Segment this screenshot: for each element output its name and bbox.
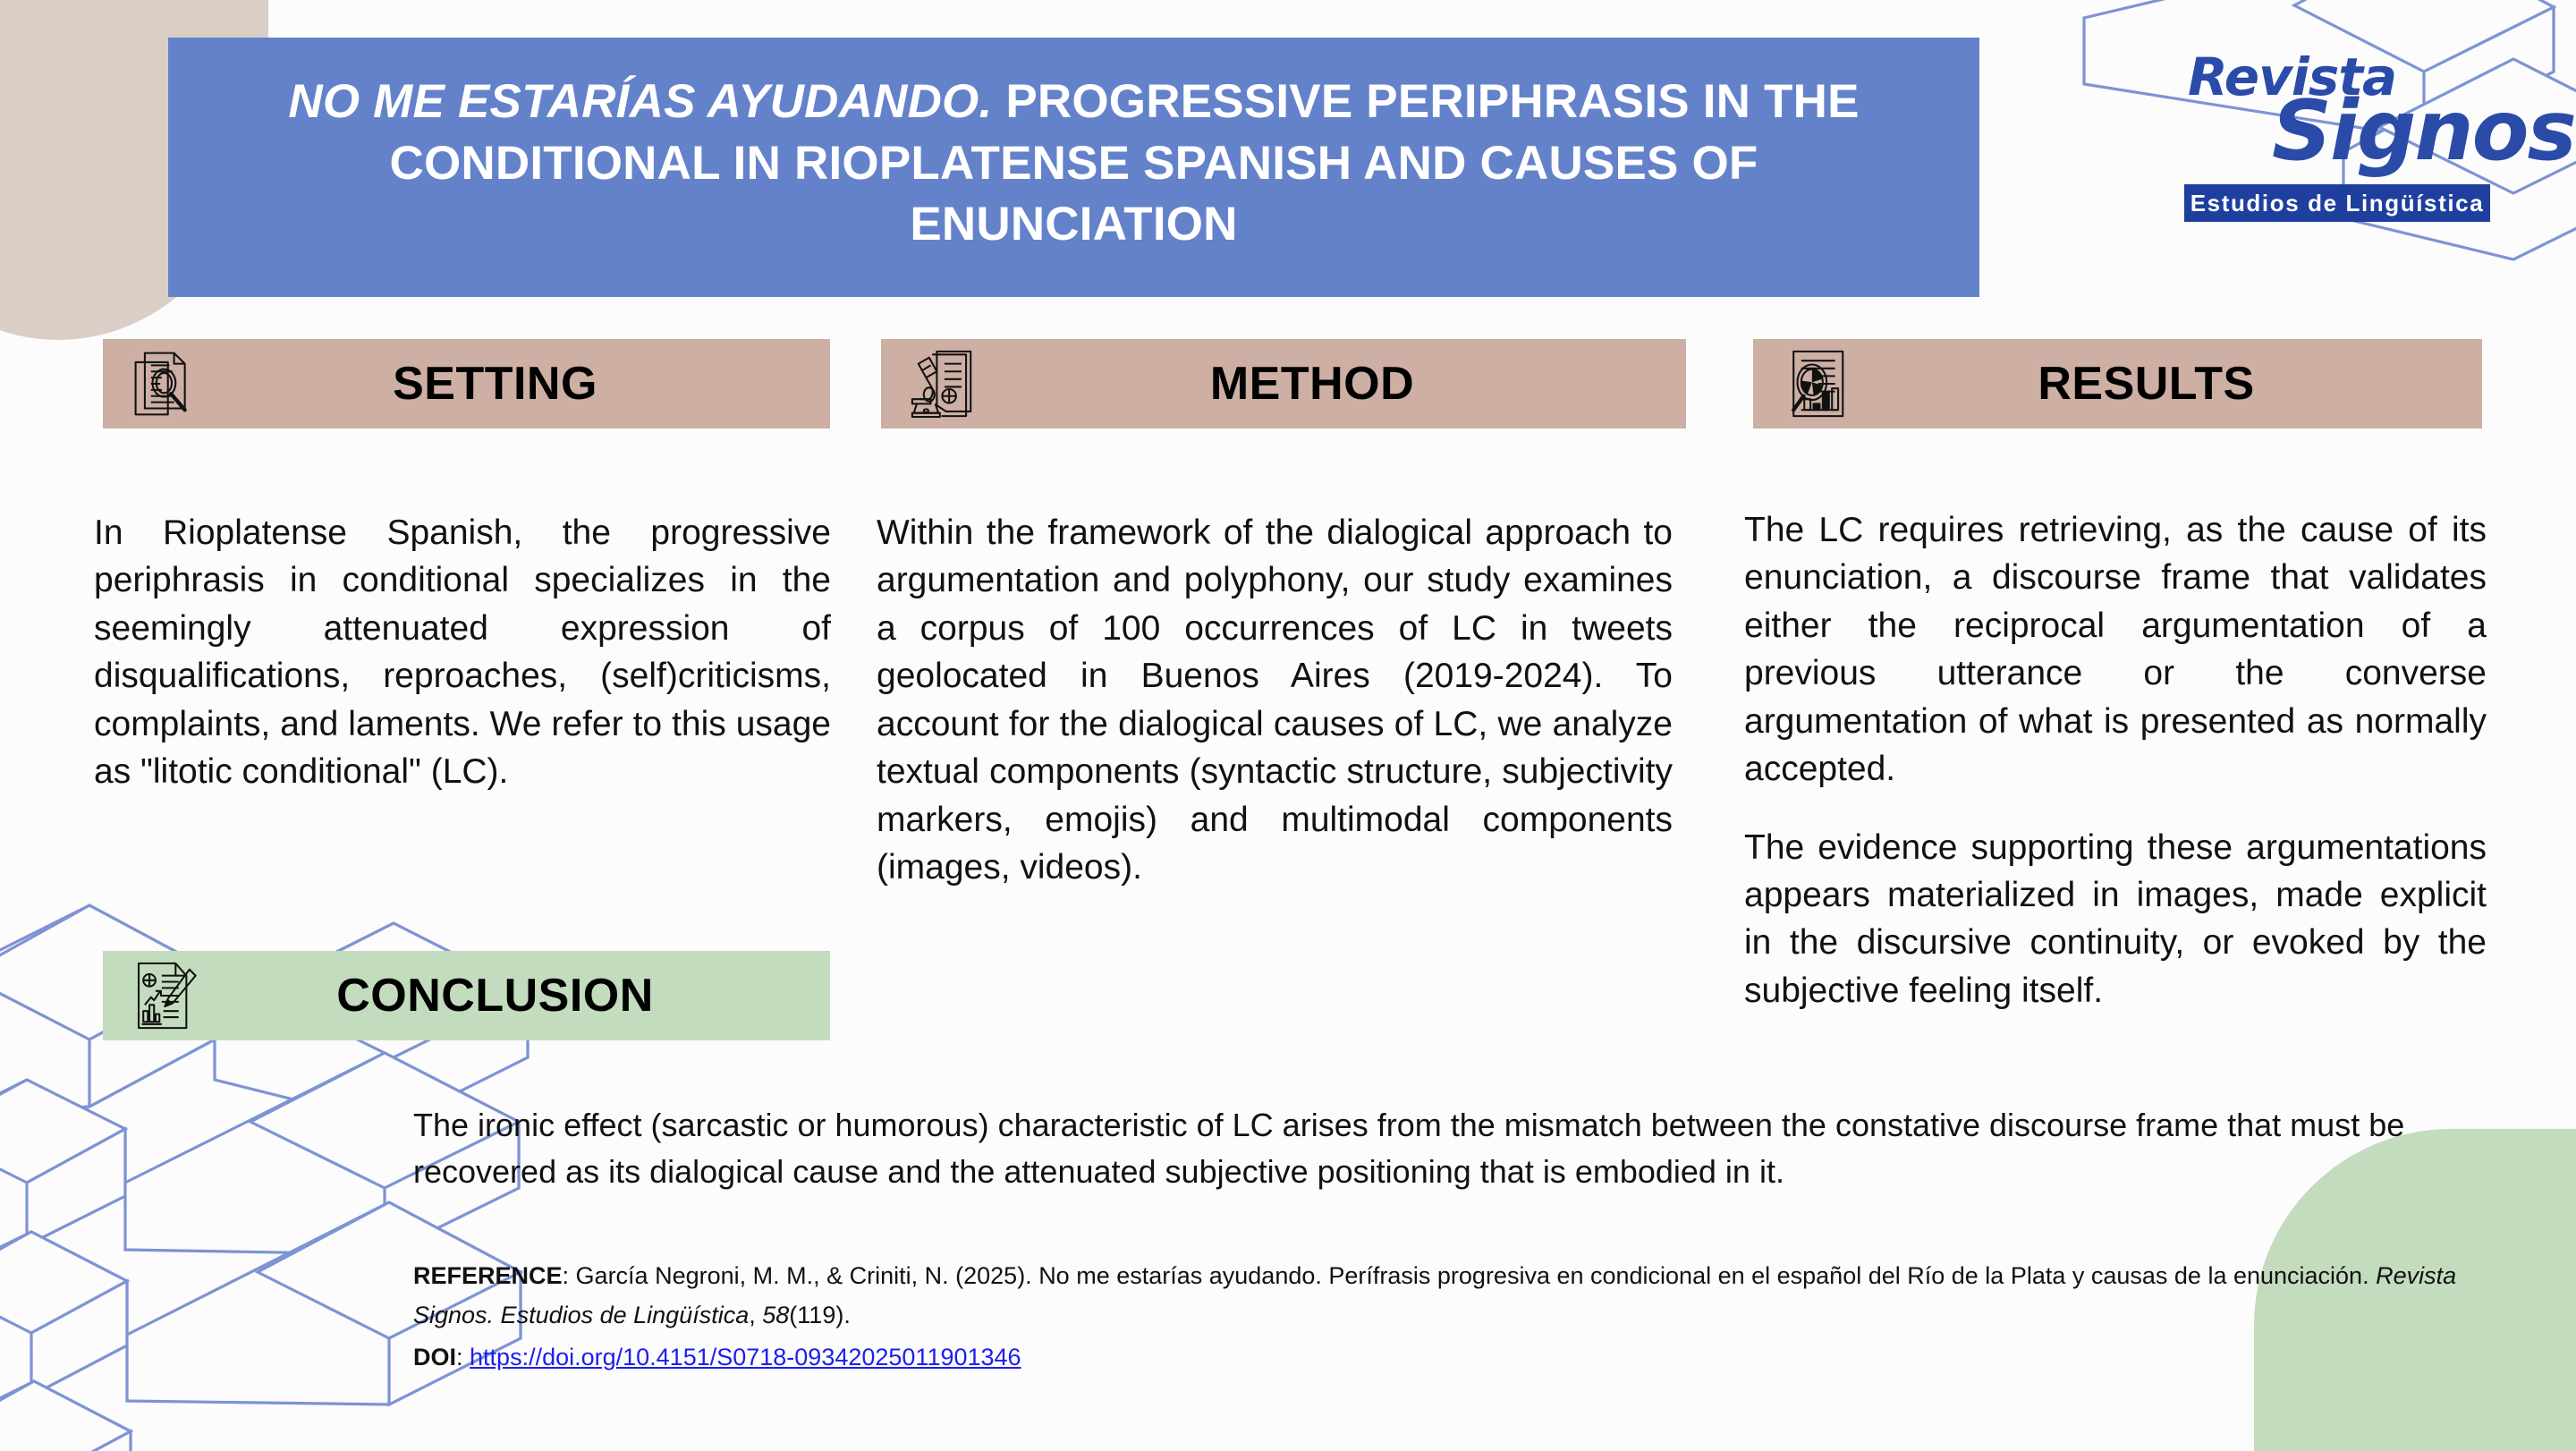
reference-label-suffix: : — [563, 1262, 576, 1289]
section-body-method: Within the framework of the dialogical a… — [877, 509, 1673, 891]
logo-subtitle-bar: Estudios de Lingüística — [2184, 184, 2490, 222]
chart-report-magnifier-icon — [1778, 345, 1855, 422]
document-magnifier-icon — [128, 345, 205, 422]
doi-line: DOI: https://doi.org/10.4151/S0718-09342… — [413, 1338, 2488, 1378]
reference-citation-part1: García Negroni, M. M., & Criniti, N. (20… — [576, 1262, 2377, 1289]
section-title-method: METHOD — [983, 357, 1686, 411]
section-title-results: RESULTS — [1855, 357, 2482, 411]
page-title-italic-part: NO ME ESTARÍAS AYUDANDO. — [288, 75, 992, 128]
doi-label-suffix: : — [456, 1344, 470, 1370]
journal-logo: Revista Signos Estudios de Lingüística — [2157, 27, 2515, 228]
section-body-setting: In Rioplatense Spanish, the progressive … — [94, 509, 831, 796]
doi-link[interactable]: https://doi.org/10.4151/S0718-0934202501… — [470, 1344, 1021, 1370]
section-title-setting: SETTING — [205, 357, 830, 411]
reference-citation-part2: , — [749, 1302, 762, 1328]
reference-label: REFERENCE — [413, 1262, 563, 1289]
paragraph: The evidence supporting these argumentat… — [1744, 824, 2487, 1015]
paragraph: The ironic effect (sarcastic or humorous… — [413, 1107, 2404, 1190]
paragraph: The LC requires retrieving, as the cause… — [1744, 506, 2487, 793]
paragraph: In Rioplatense Spanish, the progressive … — [94, 509, 831, 796]
section-header-method: METHOD — [881, 339, 1686, 429]
section-header-setting: SETTING — [103, 339, 830, 429]
page-title: NO ME ESTARÍAS AYUDANDO. PROGRESSIVE PER… — [254, 72, 1894, 257]
poster-canvas: NO ME ESTARÍAS AYUDANDO. PROGRESSIVE PER… — [0, 0, 2576, 1451]
microscope-document-icon — [906, 345, 983, 422]
reference-block: REFERENCE: García Negroni, M. M., & Crin… — [413, 1257, 2488, 1378]
reference-issue: (119). — [789, 1302, 851, 1328]
reference-citation: REFERENCE: García Negroni, M. M., & Crin… — [413, 1257, 2488, 1335]
poster-title-bar: NO ME ESTARÍAS AYUDANDO. PROGRESSIVE PER… — [168, 38, 1979, 297]
logo-word-signos: Signos — [2272, 82, 2575, 179]
section-header-results: RESULTS — [1753, 339, 2482, 429]
section-title-conclusion: CONCLUSION — [205, 969, 830, 1022]
reference-volume: 58 — [762, 1302, 789, 1328]
section-body-results: The LC requires retrieving, as the cause… — [1744, 506, 2487, 1014]
section-header-conclusion: CONCLUSION — [103, 951, 830, 1040]
document-pencil-chart-icon — [128, 957, 205, 1034]
section-body-conclusion: The ironic effect (sarcastic or humorous… — [413, 1102, 2484, 1195]
doi-label: DOI — [413, 1344, 456, 1370]
paragraph: Within the framework of the dialogical a… — [877, 509, 1673, 891]
